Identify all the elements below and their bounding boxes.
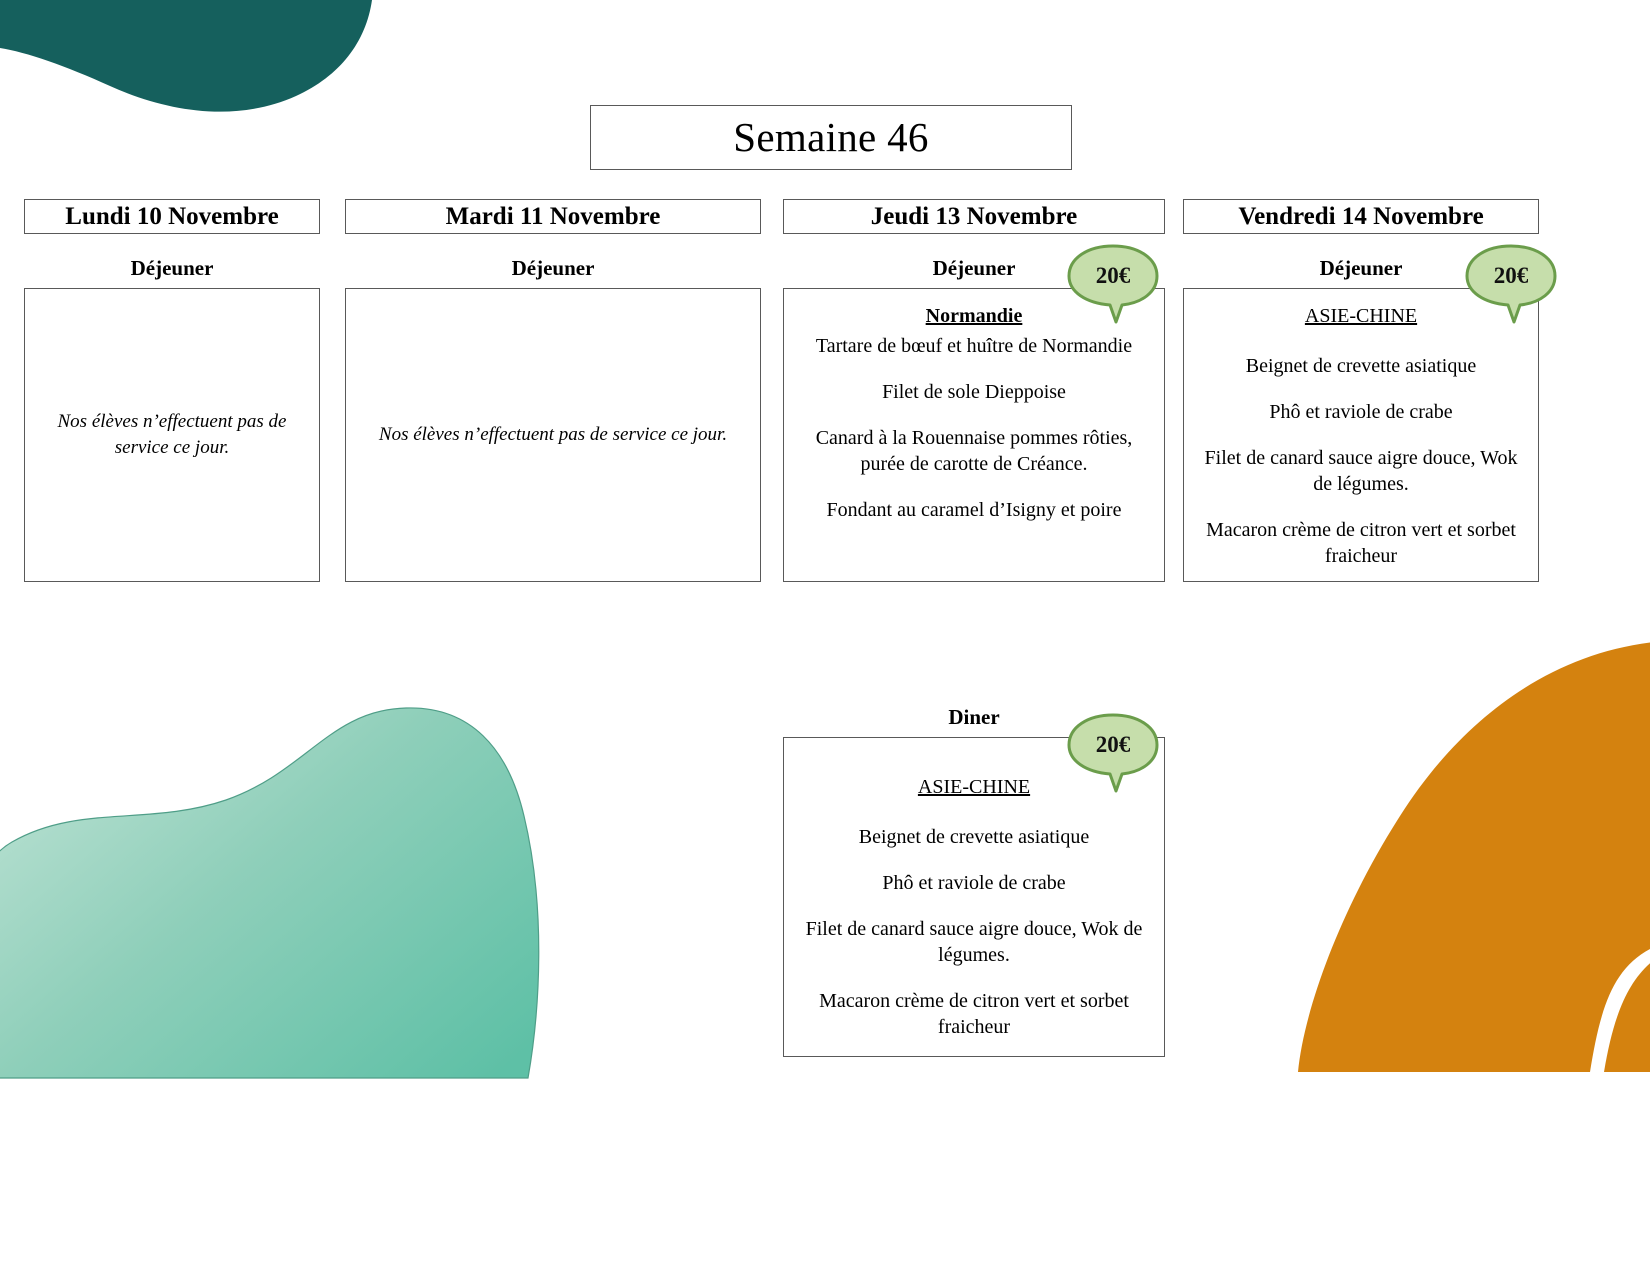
dish-item: Filet de sole Dieppoise <box>796 379 1152 405</box>
meal-label-lunch-lundi: Déjeuner <box>24 256 320 281</box>
dish-item: Phô et raviole de crabe <box>796 870 1152 896</box>
dish-item: Tartare de bœuf et huître de Normandie <box>796 333 1152 359</box>
dish-item: Filet de canard sauce aigre douce, Wok d… <box>1196 445 1526 497</box>
menu-box-vendredi-lunch: ASIE-CHINE Beignet de crevette asiatique… <box>1183 288 1539 582</box>
price-badge-value: 20€ <box>1066 732 1160 758</box>
no-service-note-lundi: Nos élèves n’effectuent pas de service c… <box>37 409 307 460</box>
page-title: Semaine 46 <box>733 117 928 158</box>
price-badge-vendredi-lunch: 20€ <box>1464 243 1558 325</box>
dish-item: Phô et raviole de crabe <box>1196 399 1526 425</box>
price-badge-value: 20€ <box>1066 263 1160 289</box>
week-title-box: Semaine 46 <box>590 105 1072 170</box>
menu-box-jeudi-lunch: Normandie Tartare de bœuf et huître de N… <box>783 288 1165 582</box>
day-column-mardi: Mardi 11 Novembre Déjeuner Nos élèves n’… <box>345 199 761 582</box>
dish-item: Macaron crème de citron vert et sorbet f… <box>796 988 1152 1040</box>
dish-item: Beignet de crevette asiatique <box>796 824 1152 850</box>
dish-item: Macaron crème de citron vert et sorbet f… <box>1196 517 1526 569</box>
day-header-jeudi: Jeudi 13 Novembre <box>783 199 1165 234</box>
day-header-vendredi: Vendredi 14 Novembre <box>1183 199 1539 234</box>
meal-label-lunch-mardi: Déjeuner <box>345 256 761 281</box>
day-header-lundi: Lundi 10 Novembre <box>24 199 320 234</box>
menu-box-mardi-lunch: Nos élèves n’effectuent pas de service c… <box>345 288 761 582</box>
day-header-mardi: Mardi 11 Novembre <box>345 199 761 234</box>
menu-sheet: Semaine 46 Lundi 10 Novembre Déjeuner No… <box>0 0 1650 1275</box>
dish-item: Fondant au caramel d’Isigny et poire <box>796 497 1152 523</box>
price-badge-value: 20€ <box>1464 263 1558 289</box>
dish-item: Beignet de crevette asiatique <box>1196 353 1526 379</box>
price-badge-jeudi-lunch: 20€ <box>1066 243 1160 325</box>
menu-box-lundi-lunch: Nos élèves n’effectuent pas de service c… <box>24 288 320 582</box>
dish-item: Canard à la Rouennaise pommes rôties, pu… <box>796 425 1152 477</box>
dish-item: Filet de canard sauce aigre douce, Wok d… <box>796 916 1152 968</box>
no-service-note-mardi: Nos élèves n’effectuent pas de service c… <box>379 422 727 448</box>
day-column-lundi: Lundi 10 Novembre Déjeuner Nos élèves n’… <box>24 199 320 582</box>
price-badge-jeudi-dinner: 20€ <box>1066 712 1160 794</box>
